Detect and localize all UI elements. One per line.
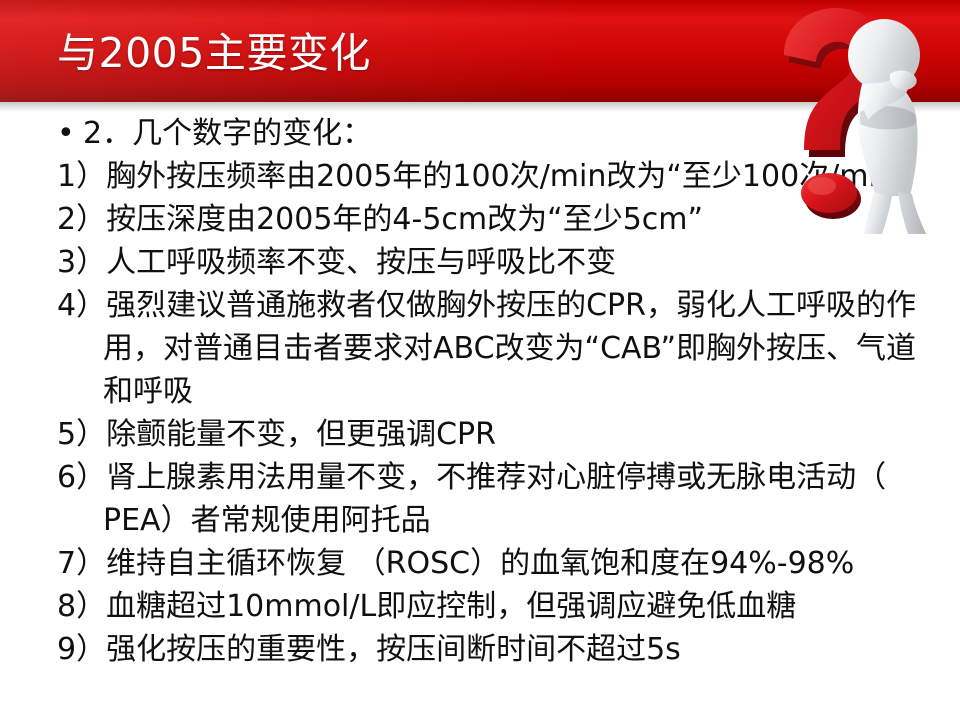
list-item: 3）人工呼吸频率不变、按压与呼吸比不变 xyxy=(0,241,960,284)
bullet-heading-text: 2．几个数字的变化： xyxy=(83,116,372,151)
bullet-heading: •2．几个数字的变化： xyxy=(0,112,960,155)
slide-body: •2．几个数字的变化： 1）胸外按压频率由2005年的100次/min改为“至少… xyxy=(0,112,960,671)
list-item: 1）胸外按压频率由2005年的100次/min改为“至少100次/min” xyxy=(0,155,960,198)
list-item-continuation: PEA）者常规使用阿托品 xyxy=(0,499,960,542)
page-title: 与2005主要变化 xyxy=(57,27,371,79)
list-item-continuation: 用，对普通目击者要求对ABC改变为“CAB”即胸外按压、气道 xyxy=(0,327,960,370)
list-item: 2）按压深度由2005年的4-5cm改为“至少5cm” xyxy=(0,198,960,241)
list-item-continuation: 和呼吸 xyxy=(0,370,960,413)
slide: 与2005主要变化 xyxy=(0,0,960,720)
list-item: 5）除颤能量不变，但更强调CPR xyxy=(0,413,960,456)
list-item: 9）强化按压的重要性，按压间断时间不超过5s xyxy=(0,628,960,671)
banner-shadow xyxy=(0,102,960,112)
bullet-dot-icon: • xyxy=(57,112,83,155)
list-item: 4）强烈建议普通施救者仅做胸外按压的CPR，弱化人工呼吸的作 xyxy=(0,284,960,327)
list-item: 8）血糖超过10mmol/L即应控制，但强调应避免低血糖 xyxy=(0,585,960,628)
list-item: 6）肾上腺素用法用量不变，不推荐对心脏停搏或无脉电活动（ xyxy=(0,456,960,499)
list-item: 7）维持自主循环恢复 （ROSC）的血氧饱和度在94%-98% xyxy=(0,542,960,585)
